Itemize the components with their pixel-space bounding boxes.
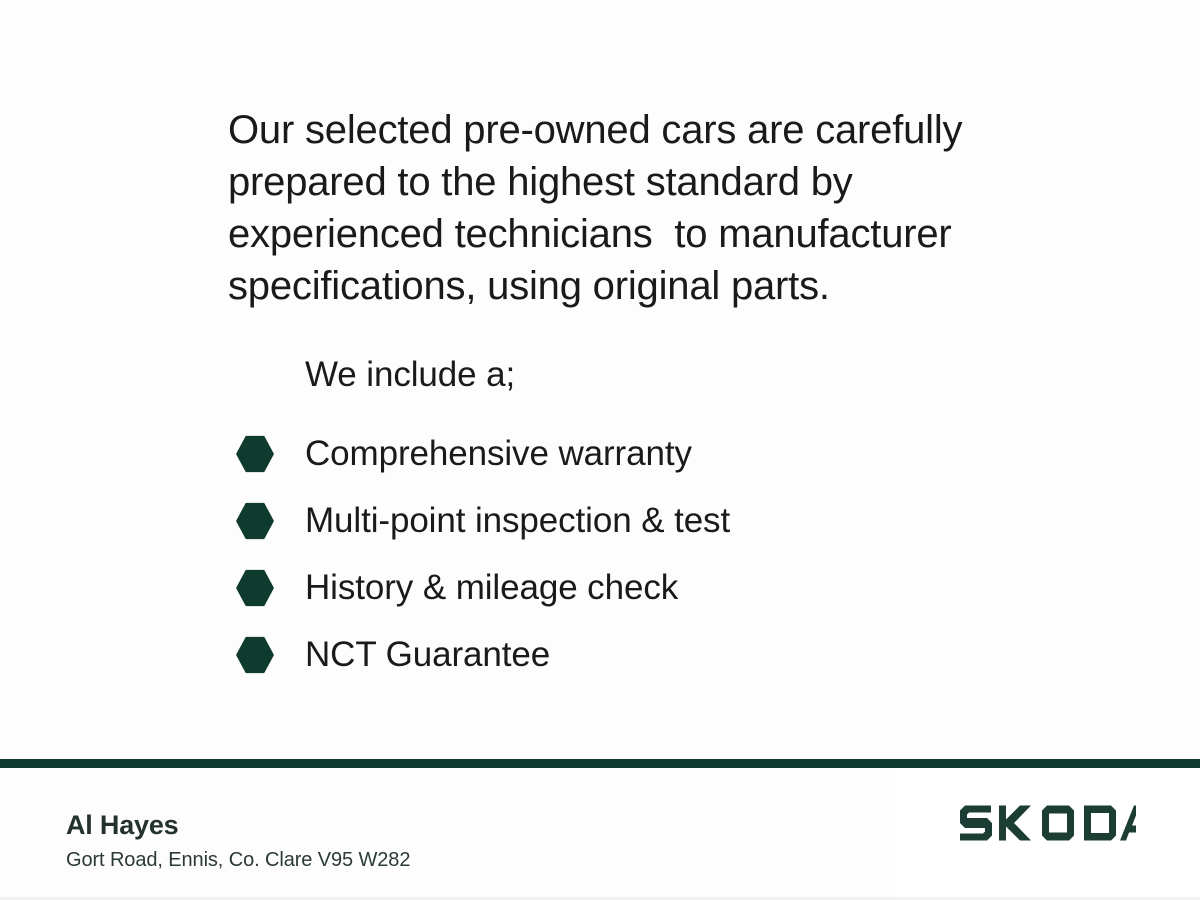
include-intro-text: We include a; bbox=[305, 353, 515, 397]
brand-divider-bar bbox=[0, 759, 1200, 768]
list-item-label: History & mileage check bbox=[305, 568, 678, 608]
main-content: Our selected pre-owned cars are carefull… bbox=[0, 0, 1200, 759]
skoda-wordmark-logo bbox=[958, 803, 1138, 843]
dealer-address: Gort Road, Ennis, Co. Clare V95 W282 bbox=[66, 847, 410, 873]
hexagon-bullet-icon bbox=[236, 636, 274, 674]
list-item-label: NCT Guarantee bbox=[305, 635, 550, 675]
page-title: Our selected pre-owned cars are carefull… bbox=[228, 104, 1018, 312]
list-item: Comprehensive warranty bbox=[236, 420, 730, 487]
dealer-name: Al Hayes bbox=[66, 809, 178, 841]
list-item: History & mileage check bbox=[236, 554, 730, 621]
hexagon-bullet-icon bbox=[236, 569, 274, 607]
list-item: NCT Guarantee bbox=[236, 621, 730, 688]
hexagon-bullet-icon bbox=[236, 435, 274, 473]
benefits-list: Comprehensive warranty Multi-point inspe… bbox=[236, 420, 730, 688]
list-item: Multi-point inspection & test bbox=[236, 487, 730, 554]
list-item-label: Multi-point inspection & test bbox=[305, 501, 730, 541]
list-item-label: Comprehensive warranty bbox=[305, 434, 692, 474]
promo-poster: Our selected pre-owned cars are carefull… bbox=[0, 0, 1200, 900]
hexagon-bullet-icon bbox=[236, 502, 274, 540]
skoda-logo-icon bbox=[958, 803, 1138, 843]
